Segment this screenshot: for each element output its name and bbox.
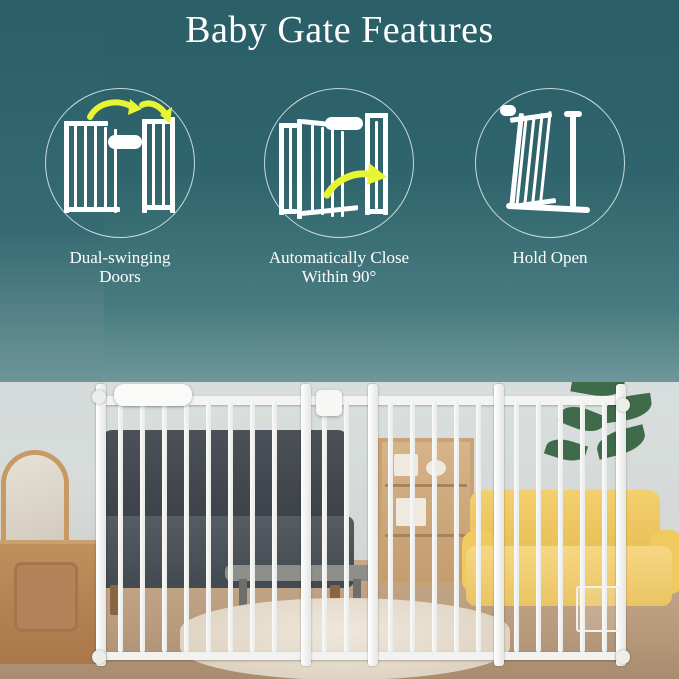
- cabinet-door: [14, 562, 78, 632]
- product-feature-image: Baby Gate Features: [0, 0, 679, 679]
- gate-bottom-rail: [96, 652, 626, 660]
- dual-swing-arrows-icon: [76, 95, 176, 129]
- feature-automatically-close: Automatically Close Within 90°: [255, 88, 423, 286]
- wooden-cabinet: [0, 540, 96, 664]
- gate-left-post: [96, 384, 106, 666]
- gate-lock-button: [316, 390, 342, 416]
- feature-dual-swinging-doors: Dual-swinging Doors: [36, 88, 204, 286]
- gate-wall-mount: [616, 650, 630, 664]
- gate-wall-mount: [616, 398, 630, 412]
- gate-wall-mount: [92, 390, 106, 404]
- page-title: Baby Gate Features: [0, 8, 679, 52]
- feature-icon-circle: [45, 88, 195, 238]
- gate-extension-panel: [576, 586, 620, 632]
- gate-wall-mount: [92, 650, 106, 664]
- auto-close-arrow-icon: [321, 151, 393, 207]
- feature-caption: Dual-swinging Doors: [36, 248, 204, 286]
- feature-icon-circle: [475, 88, 625, 238]
- gate-center-post-b: [368, 384, 378, 666]
- feature-caption: Hold Open: [466, 248, 634, 267]
- gate-latch-handle: [114, 384, 192, 406]
- feature-caption: Automatically Close Within 90°: [255, 248, 423, 286]
- feature-hold-open: Hold Open: [466, 88, 634, 267]
- gate-center-post-c: [494, 384, 504, 666]
- gate-center-post-a: [301, 384, 311, 666]
- feature-icon-circle: [264, 88, 414, 238]
- baby-gate-product: [96, 384, 626, 666]
